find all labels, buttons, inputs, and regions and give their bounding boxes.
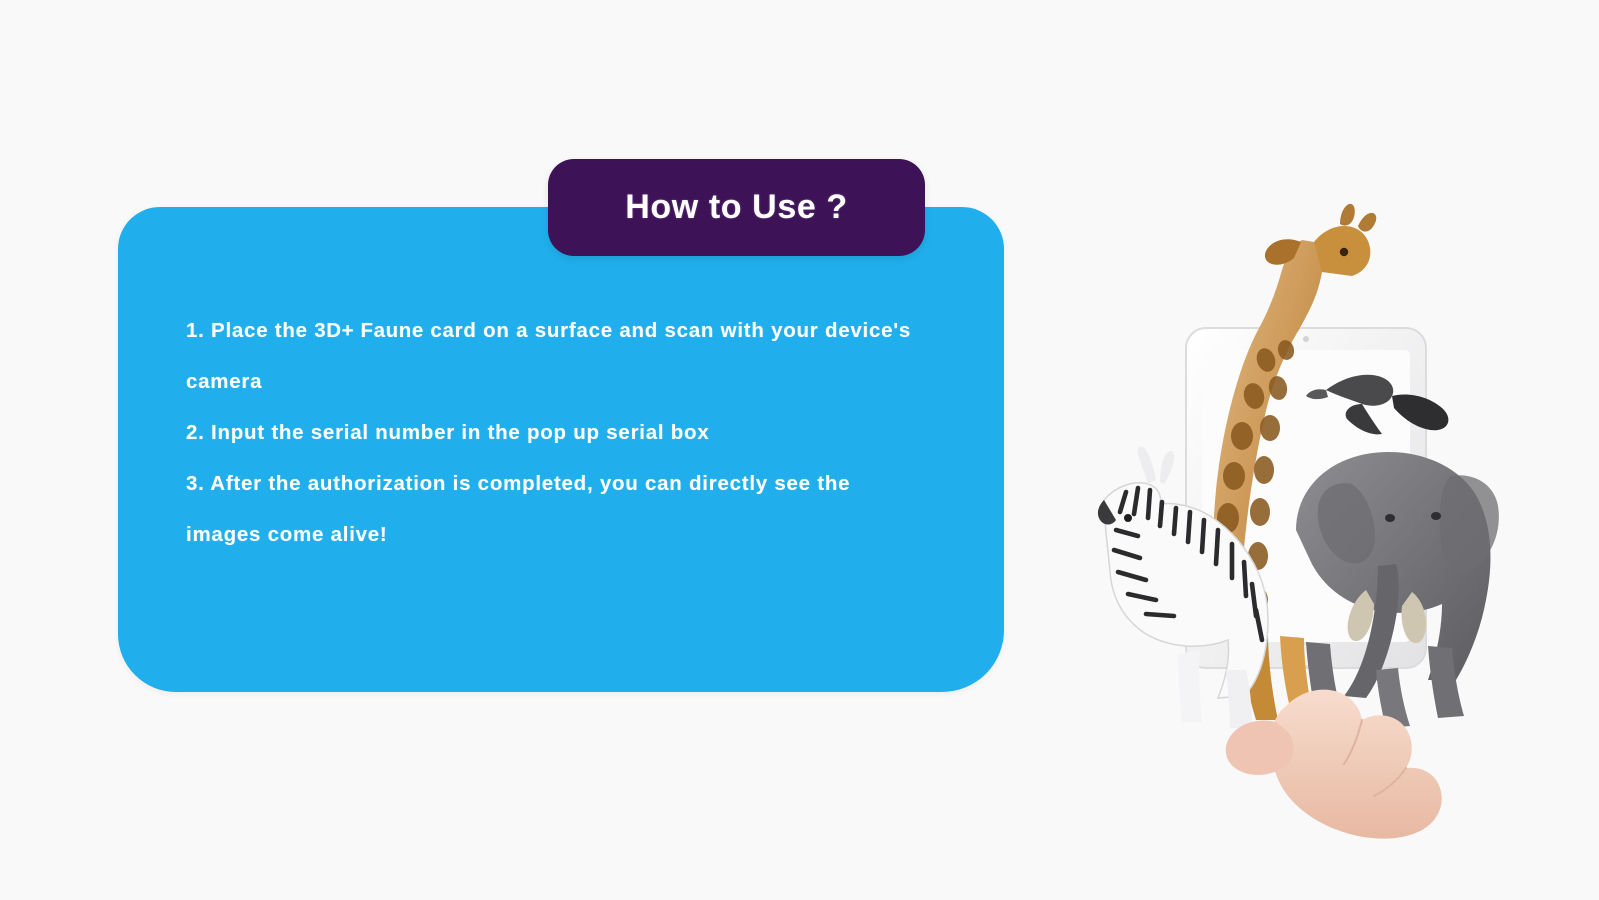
page-title: How to Use ?: [625, 188, 848, 227]
ar-safari-illustration: [1090, 200, 1560, 860]
page-root: 1. Place the 3D+ Faune card on a surface…: [0, 0, 1599, 900]
step-2-text: 2. Input the serial number in the pop up…: [186, 421, 709, 444]
step-item-3: 3. After the authorization is completed,…: [186, 458, 916, 560]
step-3-text: 3. After the authorization is completed,…: [186, 472, 850, 546]
step-1-text-before: 1. Place the: [186, 319, 314, 342]
step-item-2: 2. Input the serial number in the pop up…: [186, 407, 928, 458]
how-to-use-badge: How to Use ?: [548, 159, 925, 256]
step-item-1: 1. Place the 3D+ Faune card on a surface…: [186, 305, 916, 407]
instructions-panel: 1. Place the 3D+ Faune card on a surface…: [118, 207, 1004, 692]
step-1-emphasis: 3D+ Faune: [314, 319, 424, 342]
steps-list: 1. Place the 3D+ Faune card on a surface…: [186, 305, 928, 560]
